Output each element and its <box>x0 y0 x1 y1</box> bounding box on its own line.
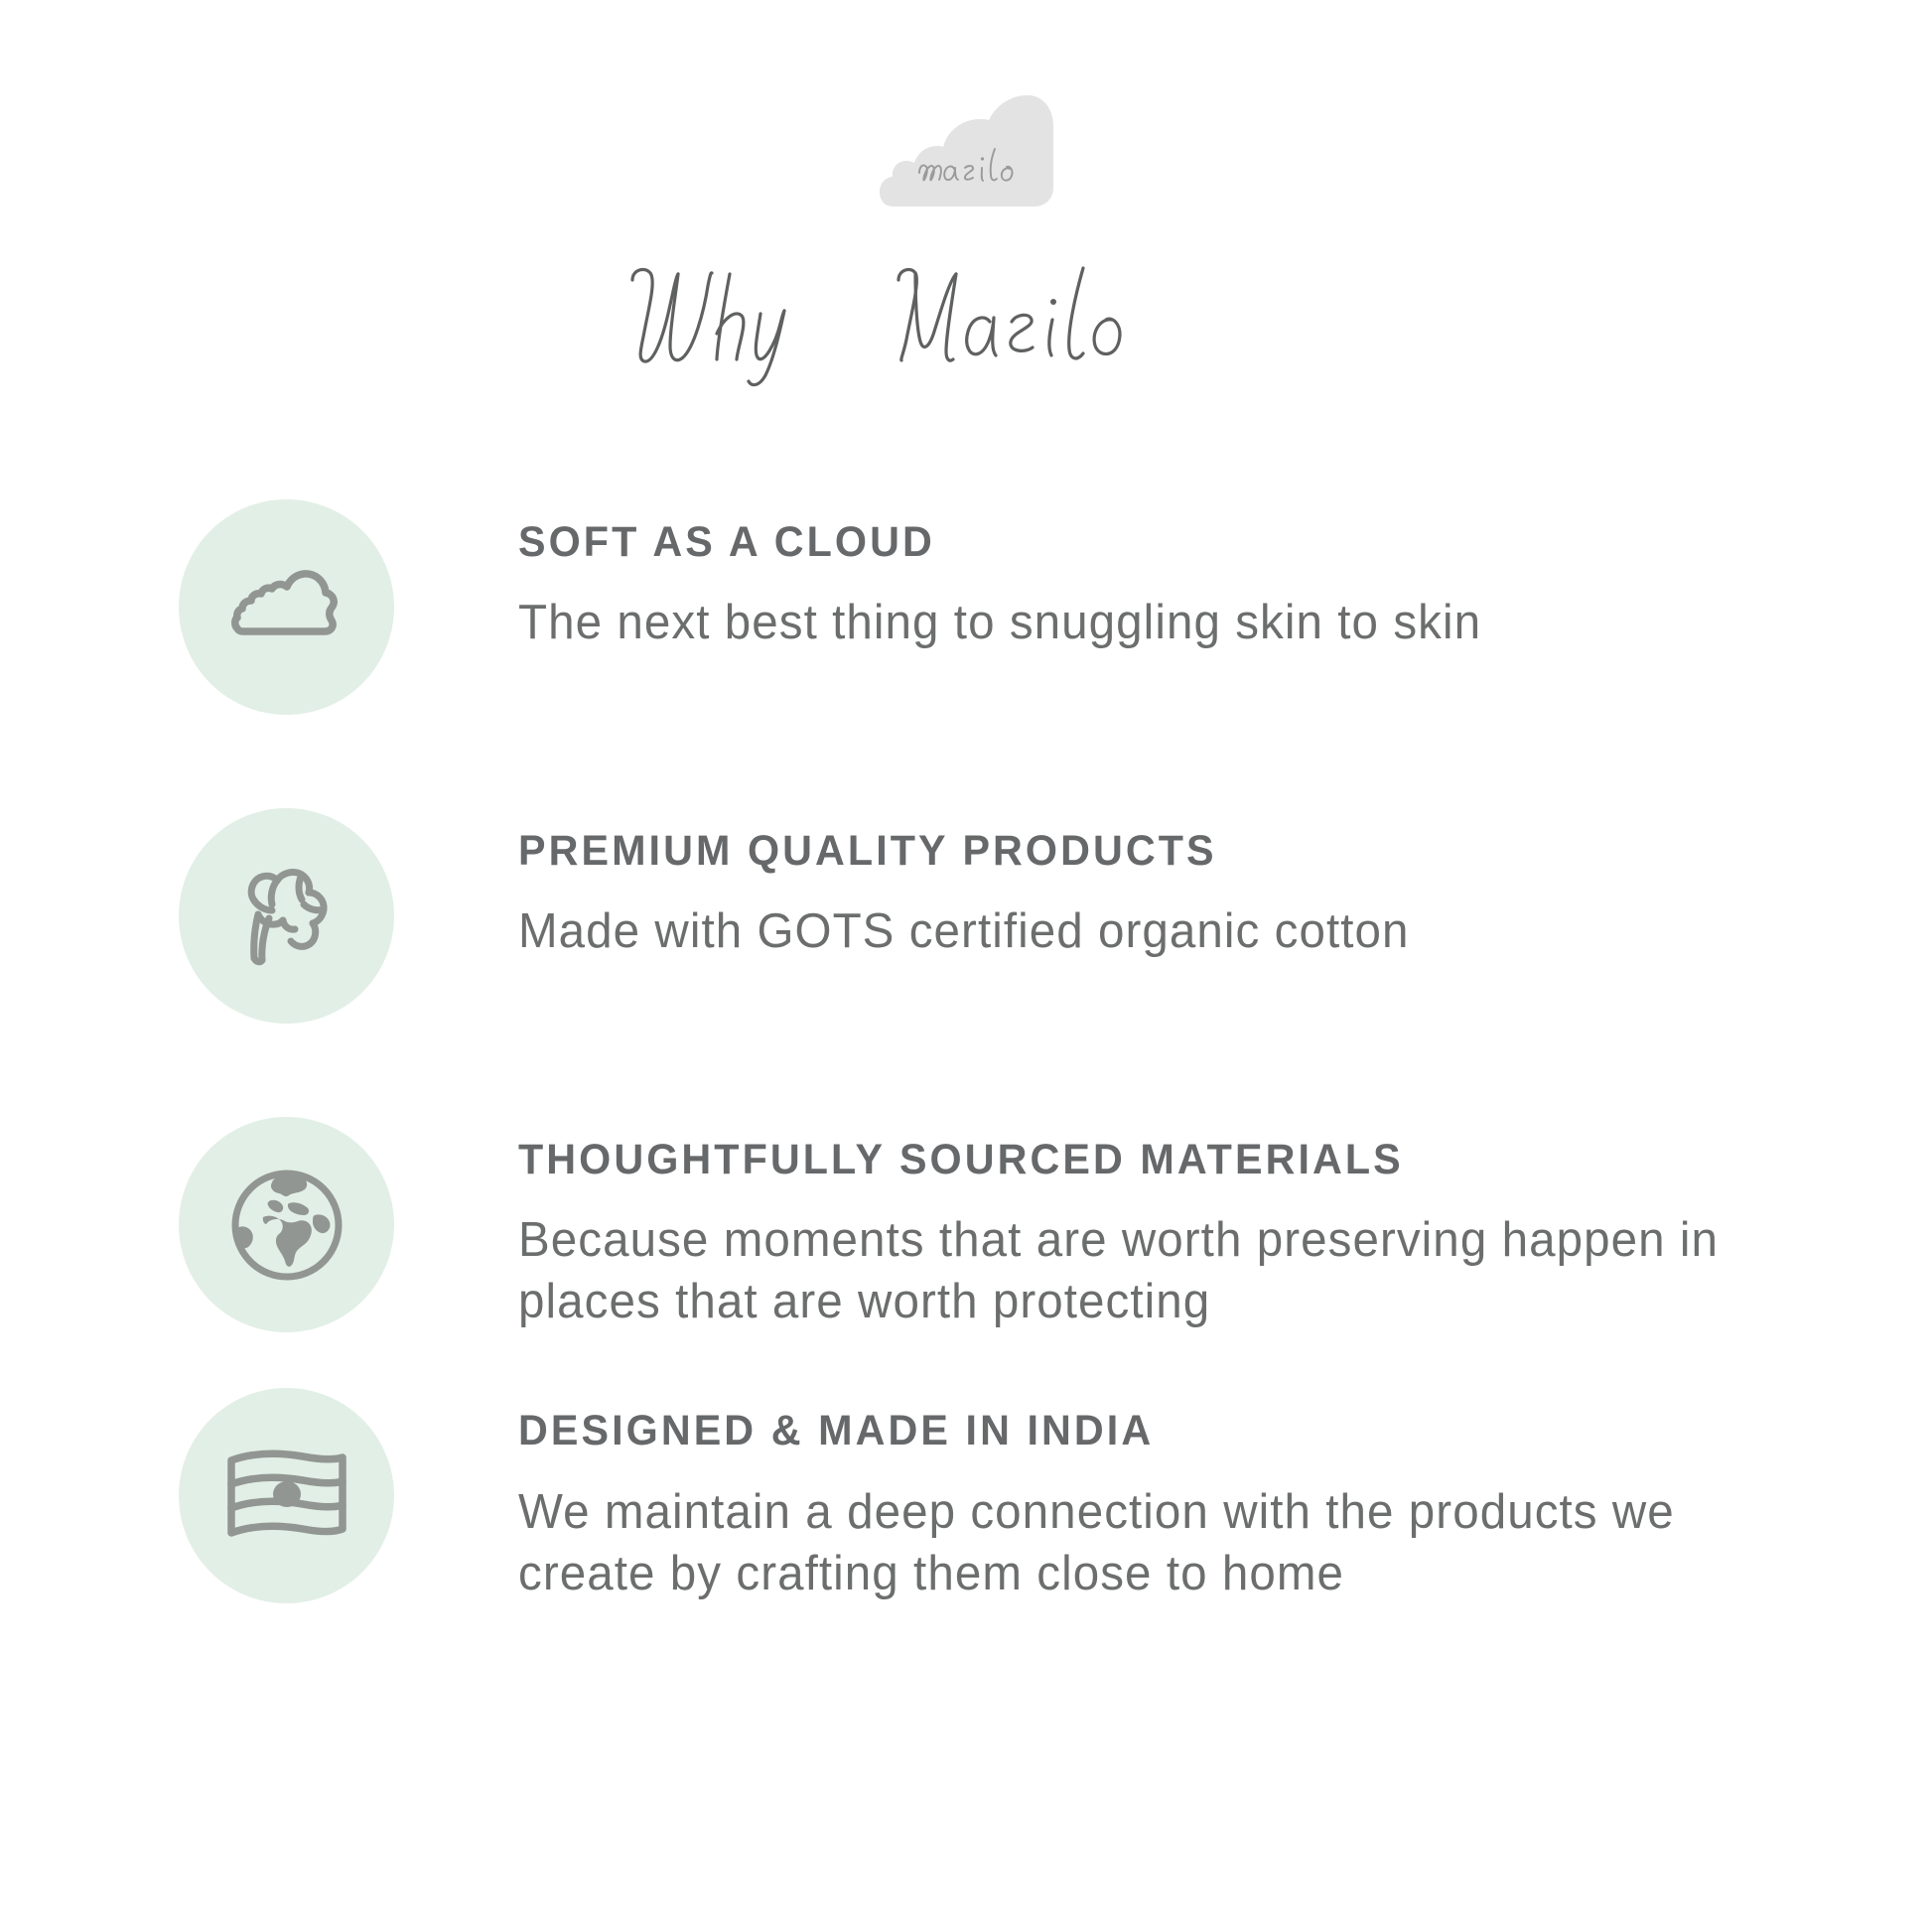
feature-body: Made with GOTS certified organic cotton <box>518 900 1741 962</box>
feature-row: SOFT AS A CLOUD The next best thing to s… <box>0 483 1932 715</box>
feature-list: SOFT AS A CLOUD The next best thing to s… <box>0 483 1932 1604</box>
feature-body: We maintain a deep connection with the p… <box>518 1481 1741 1604</box>
feature-icon-circle <box>179 1388 394 1603</box>
globe-icon <box>223 1162 350 1289</box>
feature-heading: THOUGHTFULLY SOURCED MATERIALS <box>518 1137 1728 1183</box>
cotton-boll-icon <box>232 855 342 978</box>
cloud-icon <box>225 546 348 669</box>
feature-heading: PREMIUM QUALITY PRODUCTS <box>518 828 1728 875</box>
feature-text: SOFT AS A CLOUD The next best thing to s… <box>394 483 1779 653</box>
masilo-cloud-logo-icon <box>880 95 1053 212</box>
feature-text: DESIGNED & MADE IN INDIA We maintain a d… <box>394 1372 1779 1603</box>
brand-logo <box>0 95 1932 212</box>
feature-icon-circle <box>179 1117 394 1332</box>
feature-row: DESIGNED & MADE IN INDIA We maintain a d… <box>0 1372 1932 1603</box>
feature-row: PREMIUM QUALITY PRODUCTS Made with GOTS … <box>0 792 1932 1024</box>
feature-icon-circle <box>179 808 394 1024</box>
feature-row: THOUGHTFULLY SOURCED MATERIALS Because m… <box>0 1101 1932 1332</box>
feature-icon-circle <box>179 499 394 715</box>
why-masilo-page: Why Masilo <box>0 0 1932 1932</box>
page-title-script-icon <box>619 248 1313 387</box>
feature-text: THOUGHTFULLY SOURCED MATERIALS Because m… <box>394 1101 1779 1332</box>
feature-body: The next best thing to snuggling skin to… <box>518 592 1741 653</box>
feature-text: PREMIUM QUALITY PRODUCTS Made with GOTS … <box>394 792 1779 962</box>
feature-heading: DESIGNED & MADE IN INDIA <box>518 1408 1728 1454</box>
india-flag-icon <box>221 1447 352 1546</box>
feature-heading: SOFT AS A CLOUD <box>518 519 1728 566</box>
page-title: Why Masilo <box>0 248 1932 387</box>
feature-body: Because moments that are worth preservin… <box>518 1209 1741 1332</box>
